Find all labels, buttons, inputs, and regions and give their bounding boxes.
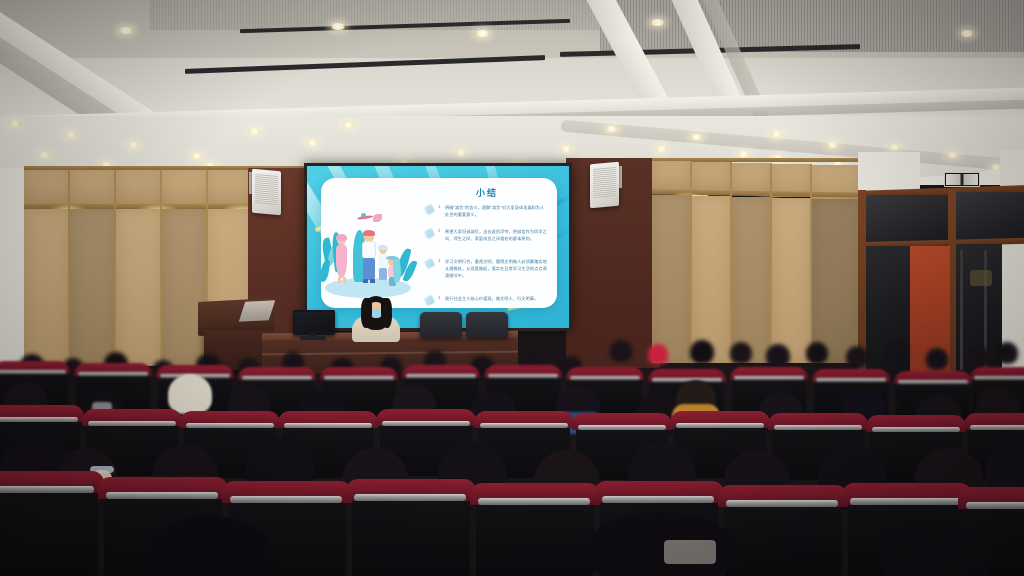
emergency-exit-sign xyxy=(944,172,980,187)
projection-screen: 小结 1 明确“减负”的含义，理解“减负”对大家身体发展和为人处世的重要意义。 … xyxy=(307,166,569,328)
presenter xyxy=(352,296,400,342)
stage-chair-1[interactable] xyxy=(420,312,462,338)
list-item: 1 明确“减负”的含义，理解“减负”对大家身体发展和为人处世的重要意义。 xyxy=(425,204,547,225)
slide-bullet-list: 1 明确“减负”的含义，理解“减负”对大家身体发展和为人处世的重要意义。 2 希… xyxy=(425,204,547,314)
ceiling-hvac-grille xyxy=(600,0,1024,52)
family-illustration xyxy=(321,212,417,304)
door-transom-glass-left xyxy=(866,195,952,243)
auditorium-photo: 小结 1 明确“减负”的含义，理解“减负”对大家身体发展和为人处世的重要意义。 … xyxy=(0,0,1024,576)
presenter-hair-front xyxy=(361,298,372,328)
pencil-icon xyxy=(423,294,435,306)
monitor-base xyxy=(300,336,326,340)
presenter-hair-front-right xyxy=(381,298,392,328)
pencil-icon xyxy=(423,203,435,215)
pencil-icon xyxy=(423,227,435,239)
slide-title: 小结 xyxy=(437,186,537,199)
door-transom-glass-right xyxy=(956,192,1024,242)
list-item: 3 学习文明行为，重视文明，懂得文明做人必须脚踏实地从细微处，从双管做起，落实在… xyxy=(425,258,547,292)
pencil-icon xyxy=(423,257,435,269)
stage-chair-2[interactable] xyxy=(466,312,508,338)
acoustic-panel-wall-right xyxy=(652,158,862,363)
desktop-monitor[interactable] xyxy=(293,310,335,335)
list-item: 4 践行社会主义核心价值观，做文明人，行文明事。 xyxy=(425,295,547,311)
list-item: 2 希望大家坦诚减负，出去虚伪浮夸，把诚信作为同学之间、师生之间、家庭成员之间相… xyxy=(425,228,547,255)
